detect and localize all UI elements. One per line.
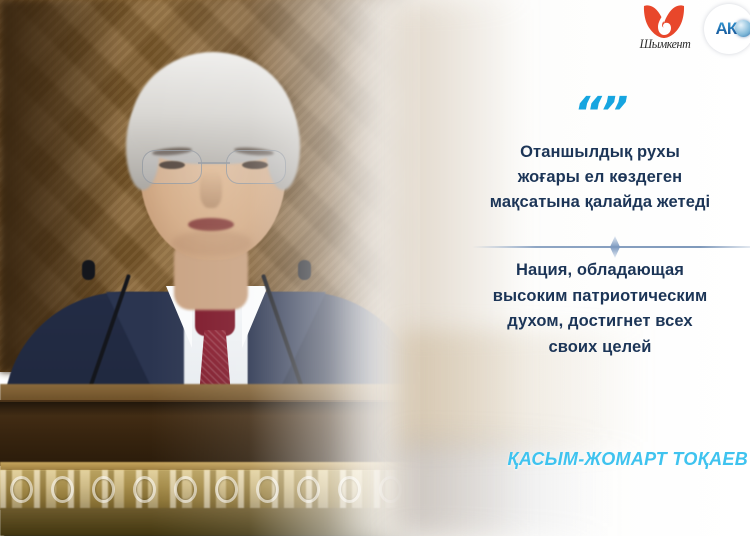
russian-quote-block: Нация, обладающая высоким патриотическим… [440,258,750,360]
kazakh-quote-block: “” Отаншылдық рухы жоғары ел көздеген ма… [440,98,750,215]
russian-quote-line-2: высоким патриотическим [440,284,750,310]
kazakh-quote-line-3: мақсатына қалайда жетеді [440,190,750,215]
quotation-mark-icon: “” [440,98,750,132]
russian-quote-line-3: духом, достигнет всех [440,309,750,335]
speaker-name: ҚАСЫМ-ЖОМАРТ ТОҚАЕВ [440,449,750,470]
speaker-name-text: ҚАСЫМ-ЖОМАРТ ТОҚАЕВ [508,449,748,469]
akorda-dome-icon [735,20,750,37]
divider-diamond-icon [610,236,620,258]
shymkent-logo[interactable]: Шымкент [634,4,696,62]
microphone-left-head [82,260,95,280]
akorda-logo[interactable]: АКО [704,4,750,54]
shymkent-wordmark: Шымкент [634,37,696,53]
russian-quote-line-1: Нация, обладающая [440,258,750,284]
kazakh-quote-line-2: жоғары ел көздеген [440,165,750,190]
tulip-icon [642,4,686,40]
logo-bar: Шымкент АКО [634,4,750,62]
kazakh-quote-line-1: Отаншылдық рухы [440,140,750,165]
quote-divider [472,236,750,258]
broadcast-graphic: Шымкент АКО “” Отаншылдық рухы жоғары ел… [0,0,750,536]
russian-quote-line-4: своих целей [440,335,750,361]
